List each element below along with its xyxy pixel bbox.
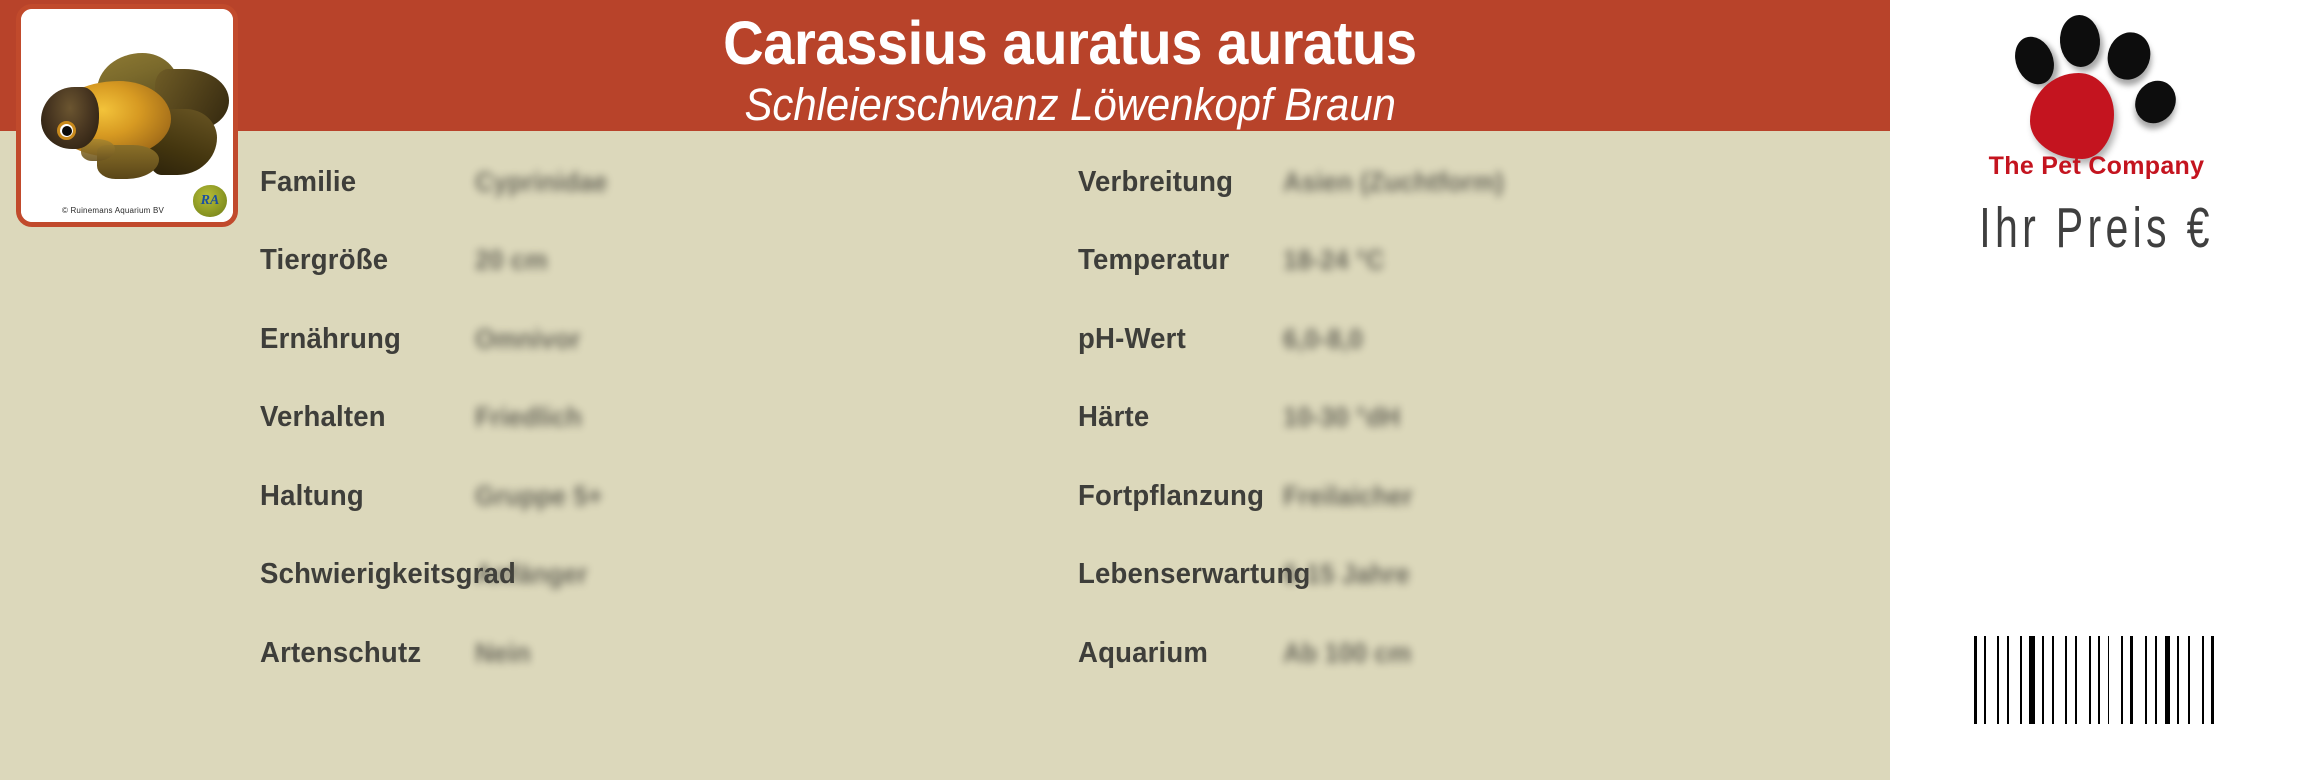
ruinemans-aquarium-logo-icon: RA — [193, 185, 227, 217]
spec-value: 6-15 Jahre — [1283, 559, 1410, 590]
paw-print-icon — [2008, 8, 2188, 158]
spec-label: Artenschutz — [260, 637, 464, 670]
spec-row: HaltungGruppe 5+ — [260, 457, 1070, 536]
spec-row: Tiergröße20 cm — [260, 222, 1070, 301]
spec-label: pH-Wert — [1078, 323, 1273, 356]
barcode-gap — [2182, 636, 2184, 724]
barcode-bar — [2188, 636, 2190, 724]
spec-label: Ernährung — [260, 323, 464, 356]
spec-label: Haltung — [260, 480, 464, 513]
barcode-gap — [2126, 636, 2127, 724]
spec-row: VerhaltenFriedlich — [260, 379, 1070, 458]
spec-row: Härte10-30 °dH — [1078, 379, 1890, 458]
spec-row: ErnährungOmnivor — [260, 300, 1070, 379]
main-panel: Carassius auratus auratus Schleierschwan… — [0, 0, 1890, 780]
spec-label: Temperatur — [1078, 244, 1273, 277]
spec-row: pH-Wert6,0-8,0 — [1078, 300, 1890, 379]
fish-pupil-shape — [62, 126, 72, 136]
spec-row: Lebenserwartung6-15 Jahre — [1078, 536, 1890, 615]
species-thumbnail[interactable]: © Ruinemans Aquarium BV RA — [16, 4, 238, 227]
spec-value: 6,0-8,0 — [1283, 324, 1363, 355]
spec-value: 18-24 °C — [1283, 245, 1385, 276]
common-name: Schleierschwanz Löwenkopf Braun — [744, 82, 1395, 127]
spec-label: Familie — [260, 166, 464, 199]
spec-value: Ab 100 cm — [1283, 638, 1411, 669]
barcode-gap — [2070, 636, 2072, 724]
barcode-bar — [1974, 636, 1977, 724]
spec-value: Friedlich — [475, 402, 582, 433]
title-block: Carassius auratus auratus Schleierschwan… — [250, 2, 1890, 131]
barcode-bar — [2029, 636, 2034, 724]
barcode-bar — [2202, 636, 2204, 724]
barcode-gap — [2038, 636, 2039, 724]
spec-label: Fortpflanzung — [1078, 480, 1273, 513]
goldfish-illustration — [35, 51, 231, 179]
barcode — [1974, 636, 2224, 724]
barcode-bar — [2165, 636, 2170, 724]
barcode-gap — [2217, 636, 2222, 724]
barcode-gap — [2012, 636, 2017, 724]
spec-row: SchwierigkeitsgradAnfänger — [260, 536, 1070, 615]
barcode-bar — [2075, 636, 2077, 724]
barcode-bar — [2020, 636, 2022, 724]
barcode-gap — [2160, 636, 2162, 724]
price-panel: The Pet Company Ihr Preis € — [1890, 0, 2303, 780]
barcode-bar — [2155, 636, 2157, 724]
barcode-gap — [2080, 636, 2086, 724]
barcode-bar — [2052, 636, 2054, 724]
barcode-gap — [2002, 636, 2004, 724]
spec-value: Freilaicher — [1283, 481, 1413, 512]
spec-label: Verhalten — [260, 401, 464, 434]
barcode-bar — [1997, 636, 1999, 724]
spec-value: Omnivor — [475, 324, 580, 355]
brand-name: The Pet Company — [1890, 152, 2303, 181]
barcode-bar — [2007, 636, 2008, 724]
barcode-bar — [2098, 636, 2100, 724]
barcode-bar — [2089, 636, 2091, 724]
barcode-gap — [2057, 636, 2062, 724]
thumbnail-image: © Ruinemans Aquarium BV RA — [21, 9, 233, 222]
paw-toe-3-shape — [2101, 26, 2157, 85]
barcode-bar — [2121, 636, 2123, 724]
barcode-bar — [1984, 636, 1986, 724]
spec-label: Verbreitung — [1078, 166, 1273, 199]
spec-label: Tiergröße — [260, 244, 464, 277]
barcode-bar — [2130, 636, 2132, 724]
barcode-gap — [2025, 636, 2026, 724]
spec-value: Anfänger — [475, 559, 588, 590]
barcode-bar — [2108, 636, 2109, 724]
spec-label: Schwierigkeitsgrad — [260, 558, 464, 591]
spec-row: VerbreitungAsien (Zuchtform) — [1078, 143, 1890, 222]
barcode-gap — [2173, 636, 2175, 724]
spec-row: Temperatur18-24 °C — [1078, 222, 1890, 301]
barcode-gap — [2136, 636, 2142, 724]
spec-row: AquariumAb 100 cm — [1078, 614, 1890, 693]
barcode-bar — [2177, 636, 2179, 724]
brand-logo: The Pet Company — [1890, 0, 2303, 200]
barcode-bar — [2042, 636, 2044, 724]
fish-head-shape — [41, 87, 99, 149]
paw-toe-2-shape — [2058, 14, 2102, 69]
spec-value: 10-30 °dH — [1283, 402, 1400, 433]
spec-column-left: FamilieCyprinidaeTiergröße20 cmErnährung… — [250, 131, 1070, 780]
scientific-name: Carassius auratus auratus — [723, 13, 1416, 74]
spec-value: Nein — [475, 638, 531, 669]
barcode-gap — [2207, 636, 2209, 724]
barcode-gap — [1980, 636, 1981, 724]
barcode-gap — [2193, 636, 2199, 724]
spec-label: Aquarium — [1078, 637, 1273, 670]
barcode-gap — [2047, 636, 2049, 724]
price-label: Ihr Preis € — [1948, 195, 2245, 261]
barcode-gap — [1989, 636, 1994, 724]
barcode-gap — [2112, 636, 2118, 724]
spec-label: Härte — [1078, 401, 1273, 434]
spec-label: Lebenserwartung — [1078, 558, 1273, 591]
spec-row: ArtenschutzNein — [260, 614, 1070, 693]
species-info-card: Carassius auratus auratus Schleierschwan… — [0, 0, 2303, 780]
spec-value: Gruppe 5+ — [475, 481, 603, 512]
barcode-bar — [2145, 636, 2147, 724]
paw-toe-4-shape — [2127, 73, 2184, 131]
barcode-gap — [2150, 636, 2152, 724]
barcode-gap — [2103, 636, 2105, 724]
barcode-bar — [2065, 636, 2067, 724]
spec-value: Cyprinidae — [475, 167, 608, 198]
paw-pad-shape — [2030, 73, 2114, 159]
spec-column-right: VerbreitungAsien (Zuchtform)Temperatur18… — [1070, 131, 1890, 780]
spec-value: Asien (Zuchtform) — [1283, 167, 1504, 198]
spec-row: FortpflanzungFreilaicher — [1078, 457, 1890, 536]
spec-table: FamilieCyprinidaeTiergröße20 cmErnährung… — [250, 131, 1890, 780]
barcode-bar — [2211, 636, 2213, 724]
ra-badge-text: RA — [201, 194, 220, 208]
spec-value: 20 cm — [475, 245, 548, 276]
spec-row: FamilieCyprinidae — [260, 143, 1070, 222]
barcode-gap — [2094, 636, 2095, 724]
